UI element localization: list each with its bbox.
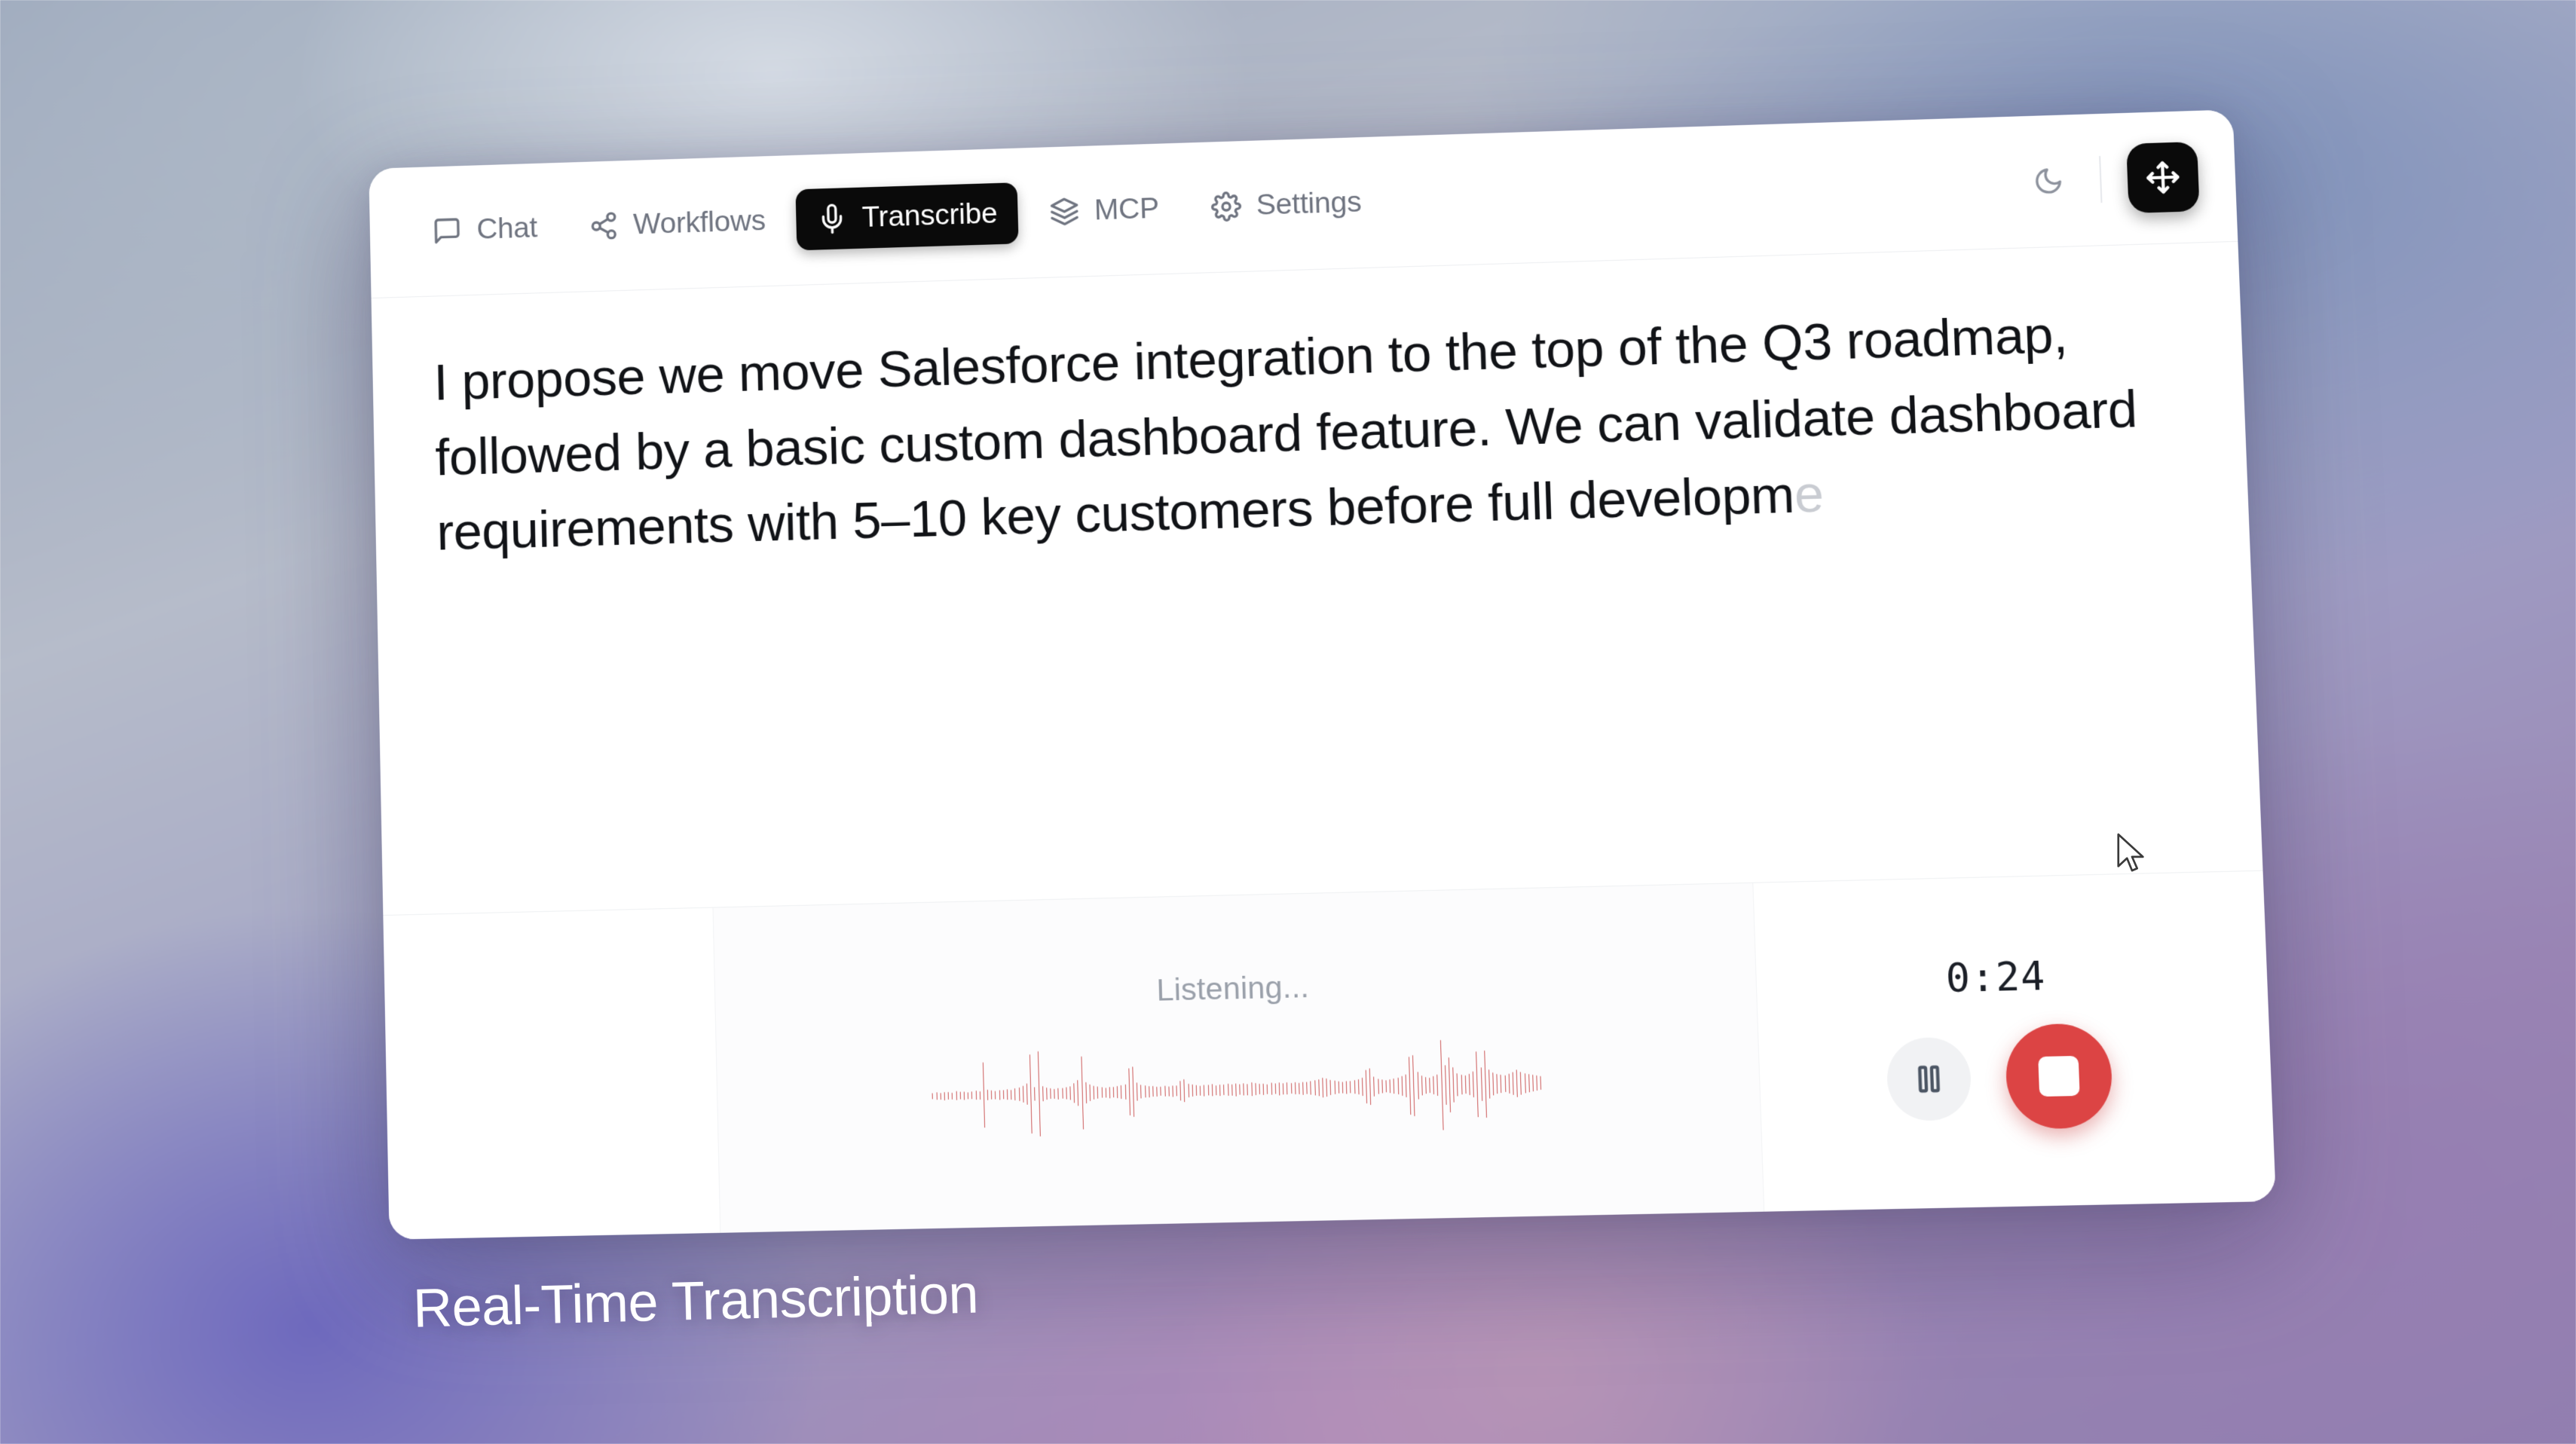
recorder-left-spacer [383,908,720,1240]
transcript-pending-text: e [1793,465,1824,524]
waveform-bar [1406,1075,1406,1097]
share-nodes-icon [588,210,620,242]
waveform-bar [1105,1088,1106,1097]
waveform-bar [1504,1075,1505,1092]
waveform-bar [1184,1079,1185,1102]
waveform-bar [1342,1081,1343,1093]
waveform-bar [1440,1040,1443,1130]
waveform-bar [1161,1087,1161,1096]
waveform-bar [1094,1086,1094,1100]
waveform-bar [1188,1084,1189,1097]
waveform-bar [1295,1082,1296,1094]
waveform-bar [1062,1088,1063,1099]
tab-chat-label: Chat [476,212,537,246]
waveform-bar [1156,1086,1157,1096]
waveform-bar [1501,1075,1501,1093]
listening-status-label: Listening... [1156,969,1310,1008]
tab-mcp[interactable]: MCP [1027,177,1180,243]
stop-recording-button[interactable] [2004,1023,2113,1130]
tab-mcp-label: MCP [1094,192,1159,227]
waveform-bar [1140,1085,1141,1098]
waveform-bar [1525,1073,1525,1093]
waveform-bar [1302,1081,1303,1094]
record-timer: 0:24 [1945,953,2047,1002]
waveform-bar [1378,1078,1378,1094]
waveform-bar [1275,1083,1276,1094]
waveform-bar [1037,1051,1039,1137]
waveform-bar [1149,1086,1149,1097]
waveform-bar [1244,1083,1244,1095]
waveform-bar [1097,1087,1098,1099]
waveform-bar [1425,1077,1426,1094]
waveform-bar [1029,1054,1032,1133]
waveform-bar [1488,1069,1489,1099]
waveform-bar [1066,1087,1066,1099]
waveform-bar [1306,1081,1307,1094]
waveform-bar [1023,1086,1023,1103]
waveform-bar [1409,1057,1411,1115]
waveform-bar [1204,1085,1204,1096]
waveform-bar [1338,1081,1338,1094]
recorder-controls-panel: 0:24 [1753,871,2276,1212]
waveform-bar [1176,1085,1177,1096]
waveform-bar [1279,1082,1280,1095]
nav-divider [2099,156,2102,203]
waveform-bar [1026,1084,1027,1105]
waveform-bar [1251,1082,1252,1096]
waveform-bar [1121,1085,1121,1099]
waveform-bar [1128,1068,1130,1115]
waveform-bar [1528,1074,1529,1092]
waveform-bar [1259,1084,1260,1094]
waveform-bar [1461,1075,1461,1094]
waveform-bar [1350,1081,1351,1093]
recorder-bar: Listening... 0:24 [383,870,2276,1240]
waveform-bar [1513,1072,1513,1094]
waveform-bar [1299,1082,1299,1094]
recorder-status-panel: Listening... [712,883,1764,1233]
waveform-bar [1401,1076,1402,1096]
waveform-bar [1318,1079,1319,1096]
waveform-bar [987,1090,988,1100]
waveform-bar [1457,1073,1458,1096]
nav-actions [2022,142,2200,216]
waveform-bar [1219,1084,1220,1095]
app-window-wrapper: Chat Workflows [369,109,2276,1239]
waveform-bar [1386,1080,1387,1092]
nav-tab-list: Chat Workflows [411,171,1383,262]
waveform-bar [1322,1078,1323,1097]
tab-chat[interactable]: Chat [411,197,558,262]
waveform-bar [991,1091,992,1100]
stop-square-icon [2038,1055,2079,1096]
waveform-bar [1172,1085,1173,1097]
waveform-bar [1235,1083,1236,1096]
waveform-bar [1509,1074,1510,1094]
waveform-bar [1196,1085,1197,1096]
waveform-bar [1207,1085,1208,1095]
waveform-bar [1271,1083,1271,1095]
waveform-bar [1050,1088,1051,1099]
waveform-bar [983,1063,984,1128]
transcript-panel[interactable]: I propose we move Salesforce integration… [372,242,2263,915]
transcript-text: I propose we move Salesforce integration… [433,295,2143,571]
waveform-bar [1239,1084,1240,1094]
waveform-bar [1132,1066,1134,1117]
waveform-bar [1007,1089,1008,1100]
pause-button[interactable] [1886,1036,1972,1121]
waveform-bar [1267,1084,1268,1094]
tab-settings[interactable]: Settings [1189,171,1383,238]
waveform-bar [1465,1075,1466,1094]
waveform-bar [1520,1072,1521,1094]
waveform-bar [1394,1078,1394,1094]
waveform-bar [1180,1081,1181,1100]
waveform-bar [1003,1090,1004,1099]
waveform-bar [1497,1074,1498,1094]
waveform-bar [1137,1082,1137,1100]
waveform-bar [1480,1067,1482,1101]
waveform-bar [1168,1086,1169,1096]
waveform-bar [1212,1084,1213,1096]
waveform-bar [1369,1068,1371,1105]
waveform-bar [1192,1085,1192,1097]
waveform-bar [1089,1085,1090,1101]
waveform-bar [1452,1067,1454,1103]
waveform-bar [1311,1081,1311,1094]
waveform-bar [1034,1087,1035,1100]
moon-icon[interactable] [2022,155,2075,207]
waveform-bar [1283,1083,1283,1094]
waveform-bar [1125,1085,1126,1100]
waveform-bar [1255,1083,1256,1095]
waveform-bar [1412,1055,1415,1116]
waveform-bar [1046,1088,1047,1100]
waveform-bar [1532,1075,1533,1091]
waveform-bar [1449,1057,1450,1112]
waveform-bar [1117,1086,1118,1098]
waveform-bar [1473,1072,1473,1097]
waveform-bar [1263,1083,1264,1094]
layers-icon [1048,195,1081,228]
waveform-bar [1113,1087,1114,1097]
waveform-bar [1216,1085,1216,1095]
waveform-bar [1421,1075,1422,1095]
waveform-bar [1200,1085,1201,1095]
waveform-bar [999,1090,1000,1100]
transcript-committed-text: I propose we move Salesforce integration… [433,305,2138,561]
waveform-bar [1330,1080,1331,1095]
audio-waveform [931,1026,1543,1153]
waveform-bar [1469,1074,1470,1095]
waveform-bar [1445,1065,1446,1105]
waveform-bar [1019,1088,1020,1101]
waveform-bar [1223,1085,1224,1095]
waveform-bar [1484,1051,1486,1118]
tab-workflows-label: Workflows [633,204,766,241]
waveform-bar [1152,1086,1153,1097]
waveform-bar [1374,1076,1375,1096]
tab-transcribe-label: Transcribe [861,197,998,234]
waveform-bar [1437,1075,1438,1096]
waveform-bar [1537,1075,1537,1091]
waveform-bar [1492,1072,1493,1095]
waveform-bar [1334,1081,1335,1094]
waveform-bar [1314,1080,1315,1095]
waveform-bar [1540,1076,1541,1090]
waveform-bar [1164,1086,1165,1097]
chat-bubble-icon [431,215,463,247]
tab-workflows[interactable]: Workflows [568,190,787,258]
app-window: Chat Workflows [369,109,2276,1239]
waveform-bar [1286,1082,1287,1094]
waveform-bar [1476,1051,1478,1117]
waveform-bar [1362,1078,1363,1096]
waveform-bar [1081,1057,1083,1130]
microphone-icon [816,203,849,235]
waveform-bar [1231,1084,1232,1095]
waveform-bar [1011,1090,1011,1100]
waveform-bar [1291,1083,1292,1094]
waveform-bar [1074,1083,1075,1103]
tab-settings-label: Settings [1256,186,1362,222]
waveform-bar [1069,1086,1070,1100]
waveform-bar [1354,1080,1354,1094]
move-arrows-icon[interactable] [2126,142,2199,213]
waveform-bar [1346,1081,1347,1094]
waveform-bar [1358,1079,1359,1094]
waveform-bar [1101,1087,1102,1097]
waveform-bar [1247,1084,1248,1095]
waveform-bar [1014,1088,1015,1100]
waveform-bar [1078,1080,1078,1106]
tab-transcribe[interactable]: Transcribe [795,182,1018,250]
waveform-bar [1228,1084,1228,1096]
waveform-bar [1326,1078,1327,1097]
waveform-bar [1381,1079,1382,1093]
waveform-bar [1085,1082,1086,1103]
waveform-bar [1417,1072,1418,1099]
waveform-bar [1109,1087,1110,1098]
waveform-bar [1366,1070,1367,1104]
record-button-group [1886,1023,2114,1132]
gear-icon [1210,191,1242,223]
waveform-bar [1397,1078,1398,1094]
waveform-bar [1390,1079,1390,1093]
waveform-bar [1042,1086,1043,1101]
waveform-bar [1145,1085,1146,1097]
waveform-bar [1058,1088,1059,1099]
waveform-bar [1429,1078,1430,1093]
waveform-bar [1054,1088,1055,1098]
waveform-bar [1433,1076,1433,1094]
waveform-bar [1516,1069,1517,1097]
